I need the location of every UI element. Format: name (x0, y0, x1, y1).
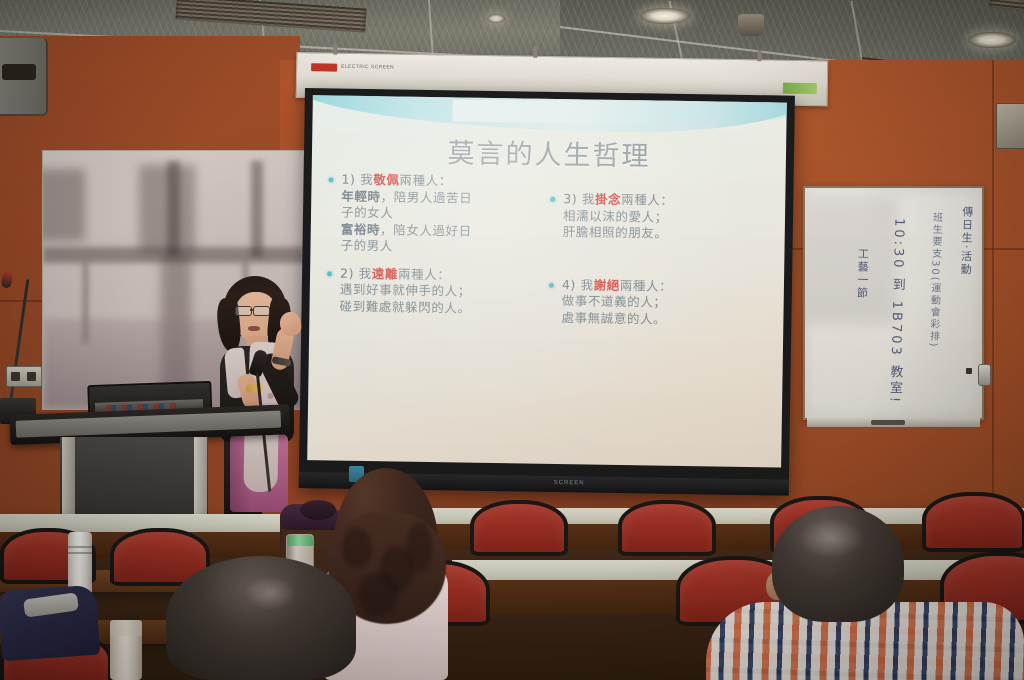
bullet-text-post: 兩種人： (620, 277, 673, 293)
bullet-dot-icon (327, 271, 332, 276)
bullet-line: 碰到難處就躲閃的人。 (339, 298, 549, 318)
hair-curl (406, 522, 432, 572)
roller-mount (533, 47, 537, 58)
bullet-line: 處事無誠意的人。 (561, 310, 771, 330)
wall-mounted-fixture (996, 103, 1024, 149)
whiteboard: 傳日生·活動 班生要支30(運動會彩排) 10:30 到 1B703 教室! 工… (803, 186, 984, 420)
podium-body (60, 437, 208, 525)
bullet-text-post: ，陪女人過好日 (380, 222, 472, 238)
bottle-cap (287, 535, 313, 546)
roller-mount (757, 50, 761, 61)
slide-bullet-area: 1) 我敬佩兩種人： 年輕時，陪男人過苦日 子的女人 富裕時，陪女人過好日 子的… (307, 171, 785, 448)
lecture-hall-photo: ELECTRIC SCREEN 莫言的人生哲理 1) 我敬佩兩種人： 年 (0, 0, 1024, 680)
slide-title: 莫言的人生哲理 (312, 129, 787, 175)
ceiling-downlight (968, 32, 1016, 48)
white-thermos-bottle[interactable] (68, 532, 92, 594)
eyeglasses-bridge (250, 309, 253, 311)
bullet-text-highlight: 掛念 (595, 192, 621, 207)
window-shadow (167, 161, 180, 257)
bullet-text-post: 兩種人： (399, 172, 452, 188)
bullet-text-post: 兩種人： (621, 192, 674, 208)
roller-label-sticker (783, 83, 817, 95)
ceiling-downlight (487, 14, 505, 23)
chair[interactable] (470, 500, 568, 556)
window-shadow (42, 169, 85, 241)
bullet-dot-icon (550, 197, 555, 202)
bullet-number: 3) (563, 191, 577, 206)
bullet-text-pre: 我 (580, 277, 593, 292)
slide-column-left: 1) 我敬佩兩種人： 年輕時，陪男人過苦日 子的女人 富裕時，陪女人過好日 子的… (323, 171, 551, 329)
door-handle[interactable] (978, 364, 991, 386)
bottle-ring (68, 546, 92, 548)
audience-foreground-person (166, 556, 356, 680)
bottle-handle[interactable] (110, 620, 142, 636)
whiteboard-marker[interactable] (871, 420, 905, 425)
speaker-grille (2, 64, 36, 80)
outlet-socket (27, 372, 36, 381)
audience-man-plaid-shirt (706, 506, 1024, 680)
podium-top-panel (16, 411, 281, 438)
chair[interactable] (618, 500, 716, 556)
eyeglasses-icon (235, 306, 252, 316)
presenter-mouth (248, 326, 260, 331)
chair-backrest (470, 500, 568, 556)
slide-bullet-2: 2) 我遠離兩種人： 遇到好事就伸手的人； 碰到難處就躲閃的人。 (323, 265, 550, 318)
hair-curl (358, 572, 398, 616)
audience-foreground-gray-patch (244, 576, 296, 610)
bullet-number: 2) (340, 265, 354, 280)
whiteboard-handwriting-column-4: 工藝一節 (854, 248, 870, 300)
bullet-text-pre: 我 (582, 191, 595, 206)
bullet-text-strong: 年輕時 (341, 188, 381, 204)
bullet-text-highlight: 謝絕 (594, 277, 620, 292)
ceiling-downlight (640, 8, 690, 24)
bullet-dot-icon (549, 282, 554, 287)
slide-surface: 莫言的人生哲理 1) 我敬佩兩種人： 年輕時，陪男人過苦日 子的女人 (307, 95, 787, 467)
slide-column-right: 3) 我掛念兩種人： 相濡以沫的愛人； 肝膽相照的朋友。 4) 我謝絕兩種人： … (545, 175, 774, 341)
eyeglasses-icon (253, 306, 270, 316)
wall-speaker (0, 38, 48, 116)
power-outlet[interactable] (6, 366, 42, 387)
bullet-text-strong: 富裕時 (341, 221, 381, 237)
slide-bullet-4: 4) 我謝絕兩種人： 做事不道義的人； 處事無誠意的人。 (545, 276, 772, 329)
audience-foreground-head (166, 556, 356, 680)
screen-bar-label: SCREEN (554, 480, 585, 486)
smoke-detector (738, 14, 764, 36)
audience-man-gray-hair-patch (798, 518, 864, 558)
bullet-line: 子的男人 (340, 238, 550, 258)
whiteboard-window-shadow (805, 196, 897, 324)
bullet-text-pre: 我 (360, 172, 373, 187)
bullet-text-highlight: 敬佩 (373, 172, 399, 187)
bullet-text-highlight: 遠離 (372, 266, 398, 281)
bullet-number: 1) (341, 172, 355, 187)
bullet-text-post: ，陪男人過苦日 (381, 189, 473, 205)
bullet-text-post: 兩種人： (398, 266, 451, 282)
whiteboard-handwriting-column-1: 傳日生·活動 (958, 206, 975, 277)
bullet-line: 肝膽相照的朋友。 (563, 224, 773, 244)
whiteboard-handwriting-column-2: 班生要支30(運動會彩排) (925, 212, 944, 349)
door-latch (966, 368, 972, 374)
outlet-socket (11, 372, 20, 381)
roller-mount (333, 44, 337, 55)
wall-seam (0, 300, 44, 302)
slide-bullet-1: 1) 我敬佩兩種人： 年輕時，陪男人過苦日 子的女人 富裕時，陪女人過好日 子的… (324, 171, 551, 257)
cream-thermos-with-handle[interactable] (110, 620, 142, 680)
bullet-dot-icon (329, 177, 334, 182)
chair-backrest (618, 500, 716, 556)
window-shadow (251, 161, 263, 257)
roller-brand-text: ELECTRIC SCREEN (341, 64, 394, 71)
projection-screen: 莫言的人生哲理 1) 我敬佩兩種人： 年輕時，陪男人過苦日 子的女人 (299, 88, 795, 496)
roller-brand-logo-icon (311, 63, 337, 71)
presenter (206, 276, 316, 526)
bottle-ring (68, 552, 92, 554)
bullet-text-pre: 我 (359, 265, 372, 280)
bullet-number: 4) (562, 277, 576, 292)
slide-bullet-3: 3) 我掛念兩種人： 相濡以沫的愛人； 肝膽相照的朋友。 (547, 191, 774, 244)
